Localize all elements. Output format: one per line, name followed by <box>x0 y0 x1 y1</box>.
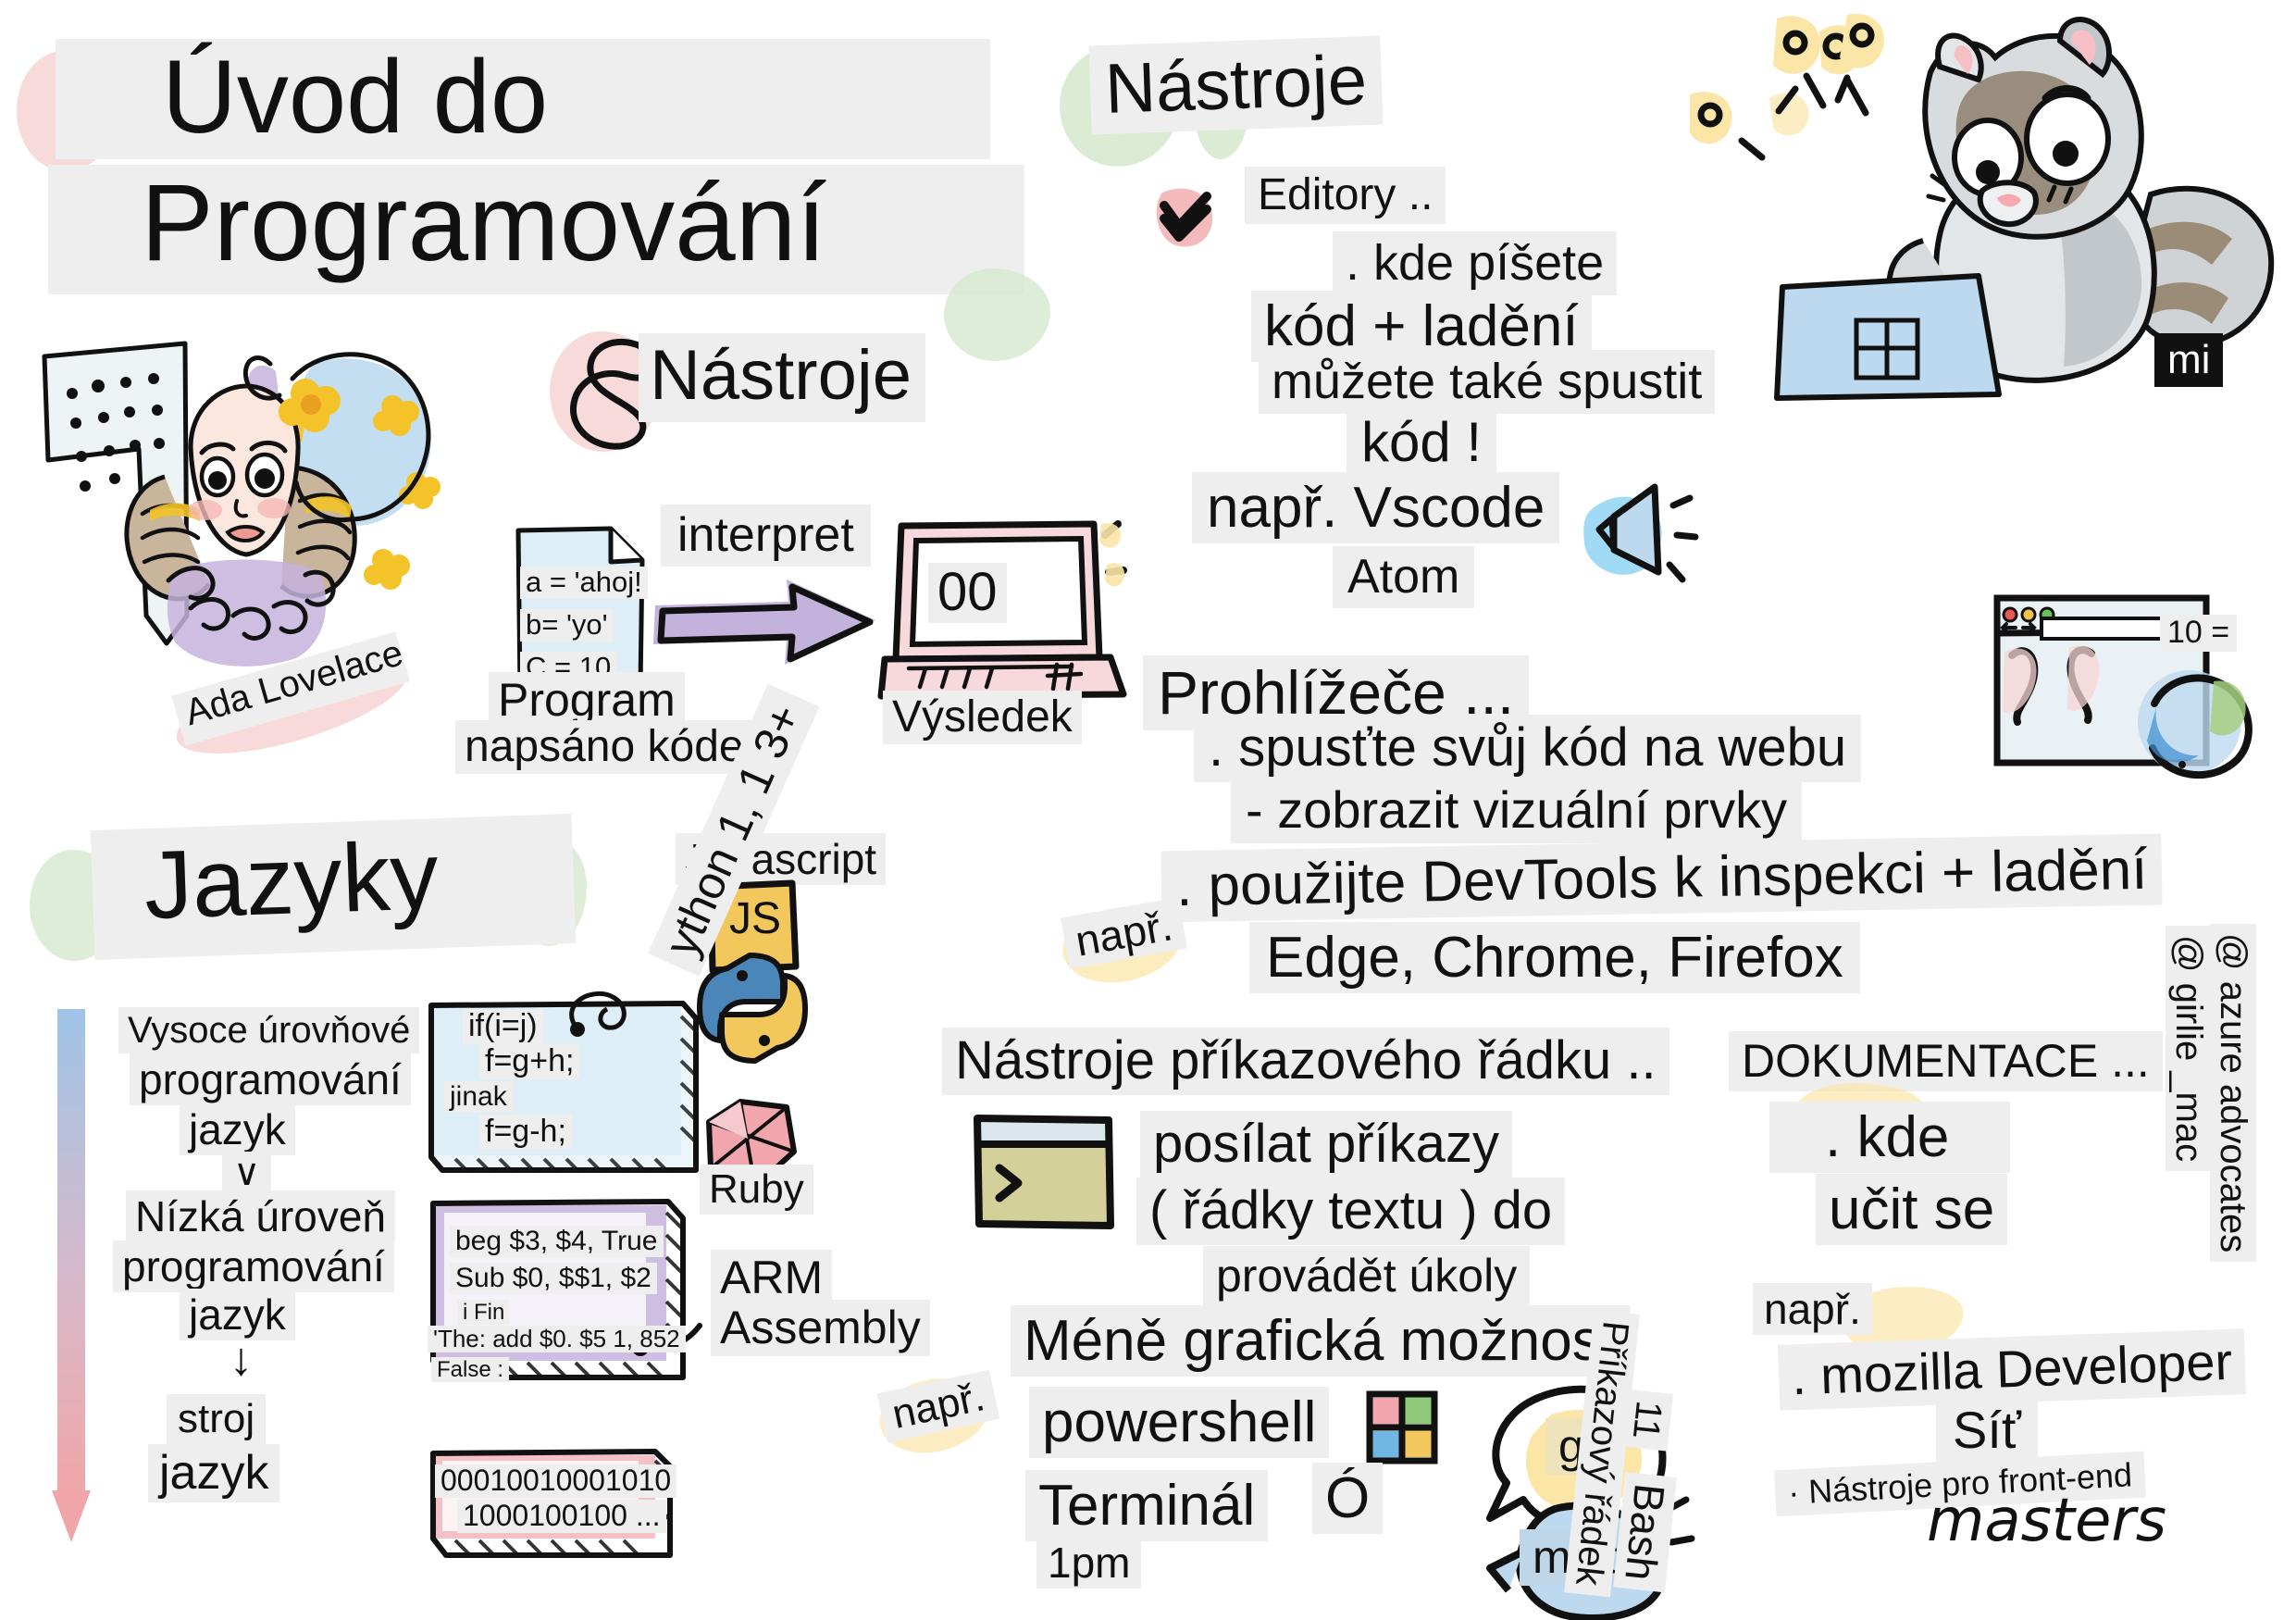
browsers-line-zobrazit: - zobrazit vizuální prvky <box>1231 778 1802 843</box>
assembly-code-line-0: beg $3, $4, True <box>450 1226 664 1257</box>
cli-powershell: powershell <box>1029 1387 1329 1458</box>
browsers-line-spustte: . spusťte svůj kód na webu <box>1194 715 1861 782</box>
assembly-label-line-1: ARM <box>711 1250 832 1306</box>
ladder-item-2: jazyk <box>180 1103 295 1155</box>
binary-code-line-0: 00010010001010 <box>435 1464 676 1498</box>
cli-line-2: provádět úkoly <box>1203 1246 1530 1306</box>
docs-masters-signature: masters <box>1917 1487 2176 1556</box>
program-code-line-1: a = 'ahoj! <box>520 567 648 599</box>
abstraction-gradient-bar <box>44 1009 104 1564</box>
cli-heading: Nástroje příkazového řádku .. <box>942 1028 1669 1095</box>
assembly-label-line-2: Assembly <box>711 1300 930 1356</box>
ruby-label: Ruby <box>700 1165 813 1215</box>
cli-line-0: posílat příkazy <box>1140 1111 1512 1178</box>
tools-line-kde-pisete: . kde píšete <box>1333 231 1617 295</box>
docs-network: Síť <box>1936 1398 2038 1464</box>
cli-terminal-glyph: Ó <box>1312 1463 1383 1534</box>
assembly-code-line-3: 'The: add $0. $5 1, 852 <box>428 1326 686 1352</box>
cli-line-1: ( řádky textu ) do <box>1136 1178 1565 1245</box>
cli-vertical-11: 11 <box>1621 1389 1673 1451</box>
browser-address-value: 10 = <box>2160 615 2237 652</box>
tools-line-spustit: můžete také spustit <box>1259 350 1715 414</box>
browser-window-illustration <box>1990 585 2286 835</box>
ladder-item-7: ↓ <box>220 1333 262 1386</box>
cli-terminal: Terminál <box>1025 1470 1268 1541</box>
windows-logo-icon <box>1360 1387 1446 1472</box>
assembly-code-line-4: False : <box>431 1357 509 1382</box>
docs-line-kde: . kde <box>1769 1102 2010 1173</box>
title-subtitle: Nástroje <box>639 333 925 422</box>
ladder-item-5: programování <box>113 1240 394 1292</box>
ladder-item-1: programování <box>130 1053 411 1105</box>
interpret-label: interpret <box>661 505 871 567</box>
terminal-window-icon <box>970 1113 1123 1233</box>
languages-heading: Jazyky <box>91 814 577 960</box>
js-badge-label: JS <box>724 894 787 944</box>
ladder-item-4: Nízká úroveň <box>126 1190 395 1242</box>
highlevel-code-line-2: jinak <box>444 1081 513 1113</box>
ladder-item-9: jazyk <box>148 1444 279 1502</box>
title-green-blob <box>944 268 1050 361</box>
browsers-line-devtools: . použijte DevTools k inspekci + ladění <box>1160 834 2163 923</box>
assembly-code-line-1: Sub $0, $$1, $2 <box>450 1263 657 1294</box>
cli-time: 1pm <box>1036 1537 1141 1589</box>
vscode-icon <box>1566 468 1705 598</box>
program-code-line-2: b= 'yo' <box>520 609 614 642</box>
interpret-arrow-icon <box>650 574 890 676</box>
tools-line-atom: Atom <box>1333 546 1474 608</box>
python-logo-icon <box>696 948 813 1068</box>
result-label: Výsledek <box>883 691 1082 744</box>
ladder-item-3: ∨ <box>222 1152 271 1194</box>
tools-line-vscode: např. Vscode <box>1192 472 1559 543</box>
tools-line-kod: kód ! <box>1347 407 1496 477</box>
title-line2: Programování <box>48 165 1024 294</box>
title-line1: Úvod do <box>56 39 990 159</box>
result-screen-value: 00 <box>928 563 1007 623</box>
ladder-item-8: stroj <box>167 1394 266 1444</box>
highlevel-code-line-3: f=g-h; <box>479 1115 572 1150</box>
docs-heading: DOKUMENTACE ... <box>1729 1031 2163 1091</box>
tools-heading: Nástroje <box>1088 36 1383 135</box>
credit-handle-azure: @ azure advocates <box>2210 924 2256 1262</box>
highlevel-code-line-0: if(i=j) <box>463 1009 543 1044</box>
infographic-canvas: Úvod do Programování Nástroje <box>0 0 2296 1619</box>
browsers-examples: Edge, Chrome, Firefox <box>1249 922 1860 993</box>
ladder-item-0: Vysoce úrovňové <box>118 1007 419 1053</box>
check-mark-icon <box>1151 181 1223 254</box>
docs-line-ucit-se: učit se <box>1816 1174 2007 1245</box>
assembly-code-line-2: i Fin <box>457 1300 510 1325</box>
docs-eg-label: např. <box>1753 1283 1872 1335</box>
credit-handle-girlie: @ girlie _mac <box>2166 926 2212 1171</box>
mascot-badge: mi <box>2154 333 2223 387</box>
cli-eg-label: např. <box>877 1370 1000 1443</box>
binary-code-line-1: 1000100100 ... <box>457 1500 666 1533</box>
highlevel-code-line-1: f=g+h; <box>479 1044 579 1079</box>
sparkles-cluster <box>1684 9 1888 185</box>
cli-less-graphical: Méně grafická možnost <box>1011 1305 1630 1377</box>
tools-editors-heading: Editory .. <box>1245 167 1446 224</box>
